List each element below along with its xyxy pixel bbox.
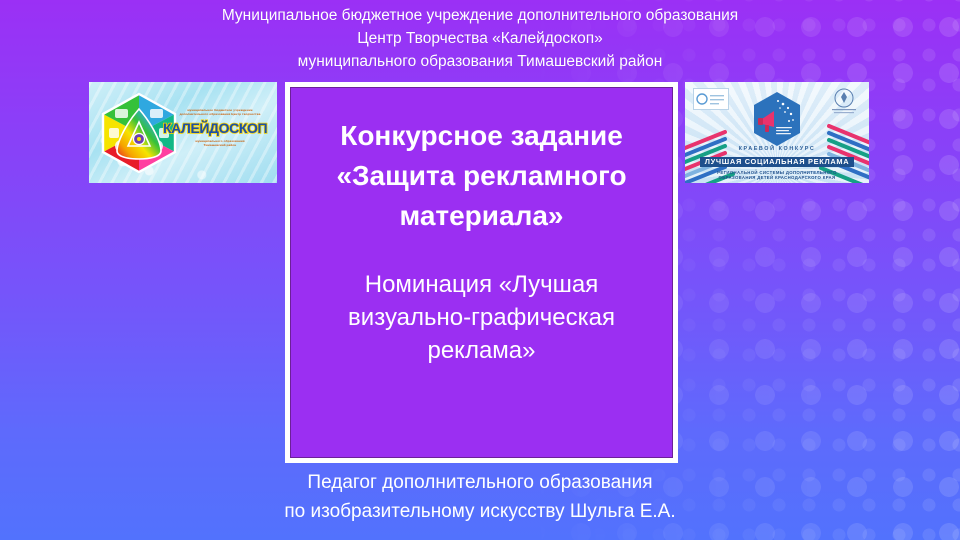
nomination-subtitle: Номинация «Лучшая визуально-графическая … xyxy=(309,268,654,367)
banner-line-2: ЛУЧШАЯ СОЦИАЛЬНАЯ РЕКЛАМА xyxy=(700,157,855,168)
header-line-1: Муниципальное бюджетное учреждение допол… xyxy=(0,4,960,27)
banner-text-block: КРАЕВОЙ КОНКУРС ЛУЧШАЯ СОЦИАЛЬНАЯ РЕКЛАМ… xyxy=(685,147,869,180)
main-title: Конкурсное задание «Защита рекламного ма… xyxy=(309,116,654,236)
footer-line-1: Педагог дополнительного образования xyxy=(0,468,960,497)
author-footer: Педагог дополнительного образования по и… xyxy=(0,468,960,526)
banner-card-icon xyxy=(693,88,729,110)
kaleidoscope-logo: КАЛЕЙДОСКОП муниципальное бюджетное учре… xyxy=(89,82,277,183)
megaphone-icon xyxy=(752,91,802,147)
title-panel-inner: Конкурсное задание «Защита рекламного ма… xyxy=(290,87,673,458)
kaleidoscope-caption-2: дополнительного образования Центр творче… xyxy=(164,113,276,117)
header-line-3: муниципального образования Тимашевский р… xyxy=(0,50,960,73)
banner-line-4: ОБРАЗОВАНИЯ ДЕТЕЙ КРАСНОДАРСКОГО КРАЯ xyxy=(685,176,869,181)
banner-crest-icon xyxy=(829,87,859,117)
kaleidoscope-wordmark: КАЛЕЙДОСКОП xyxy=(163,120,267,136)
institution-header: Муниципальное бюджетное учреждение допол… xyxy=(0,4,960,73)
title-panel: Конкурсное задание «Защита рекламного ма… xyxy=(285,82,678,463)
presentation-slide: Муниципальное бюджетное учреждение допол… xyxy=(0,0,960,540)
regional-contest-banner: КРАЕВОЙ КОНКУРС ЛУЧШАЯ СОЦИАЛЬНАЯ РЕКЛАМ… xyxy=(685,82,869,183)
header-line-2: Центр Творчества «Калейдоскоп» xyxy=(0,27,960,50)
footer-line-2: по изобразительному искусству Шульга Е.А… xyxy=(0,497,960,526)
kaleidoscope-caption-4: Тимашевский район xyxy=(164,144,276,148)
